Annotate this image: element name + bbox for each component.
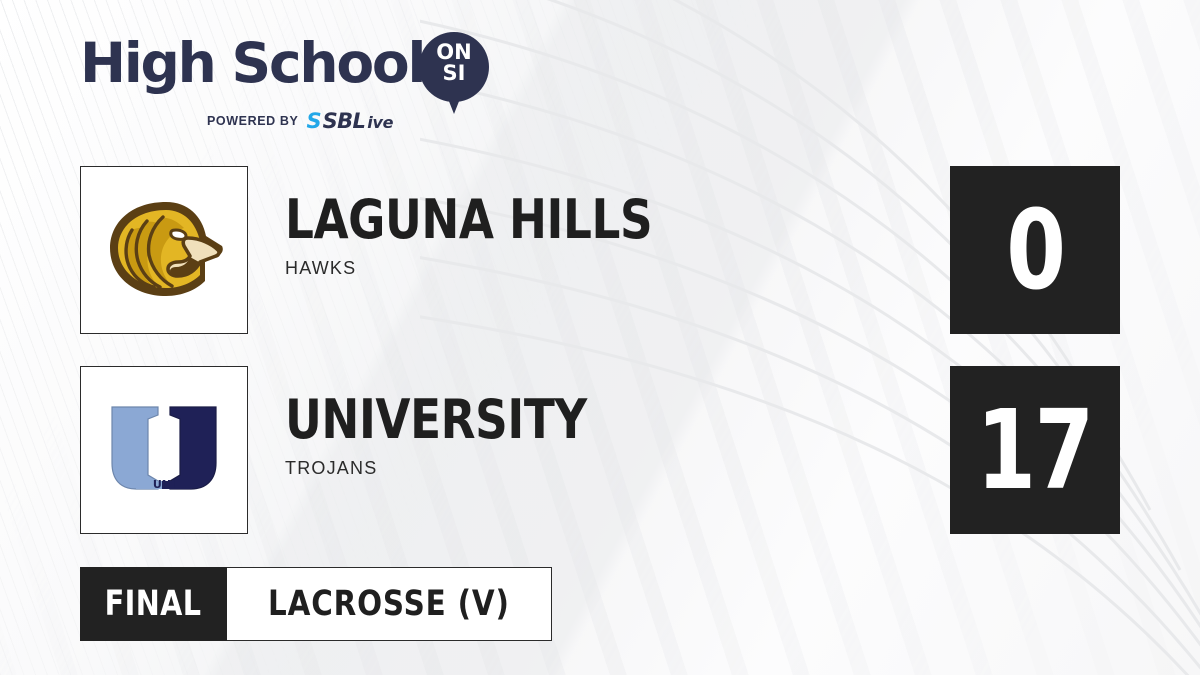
team-name-home: UNIVERSITY (285, 392, 823, 448)
brand-title: High School (80, 36, 424, 91)
pin-label-si: SI (419, 63, 489, 84)
scoreboard-graphic: High School ON SI POWERED BY S SBL ive (0, 0, 1200, 675)
team-row-home: UNI UNIVERSITY TROJANS 17 (80, 366, 1120, 534)
team-logo-box-home: UNI (80, 366, 248, 534)
onsi-pin-icon: ON SI (419, 32, 489, 116)
university-logo-uni-text: UNI (153, 478, 175, 491)
hawk-head-logo-icon (102, 196, 226, 304)
powered-by-lockup: POWERED BY S SBL ive (207, 110, 393, 132)
sblive-wordmark-light: ive (367, 115, 393, 131)
powered-by-label: POWERED BY (207, 114, 298, 128)
sblive-wordmark-bold: SBL (323, 111, 366, 132)
sport-label: LACROSSE (V) (268, 584, 510, 624)
team-logo-box-away (80, 166, 248, 334)
sport-badge: LACROSSE (V) (227, 567, 552, 641)
team-text-away: LAGUNA HILLS HAWKS (285, 192, 925, 279)
score-value-home: 17 (977, 395, 1093, 505)
team-mascot-away: HAWKS (285, 258, 925, 279)
game-status-label: FINAL (105, 584, 202, 624)
university-u-logo-icon: UNI (106, 397, 222, 503)
score-box-away: 0 (950, 166, 1120, 334)
sblive-mark-icon: S (306, 111, 320, 132)
brand-lockup: High School ON SI POWERED BY S SBL ive (80, 36, 510, 132)
team-mascot-home: TROJANS (285, 458, 925, 479)
team-name-away: LAGUNA HILLS (285, 192, 823, 248)
pin-label: ON SI (419, 42, 489, 84)
status-bar: FINAL LACROSSE (V) (80, 567, 552, 641)
pin-label-on: ON (419, 42, 489, 63)
score-value-away: 0 (1006, 195, 1064, 305)
team-text-home: UNIVERSITY TROJANS (285, 392, 925, 479)
game-status-badge: FINAL (80, 567, 227, 641)
sblive-logo: S SBL ive (306, 111, 393, 132)
team-row-away: LAGUNA HILLS HAWKS 0 (80, 166, 1120, 334)
score-box-home: 17 (950, 366, 1120, 534)
